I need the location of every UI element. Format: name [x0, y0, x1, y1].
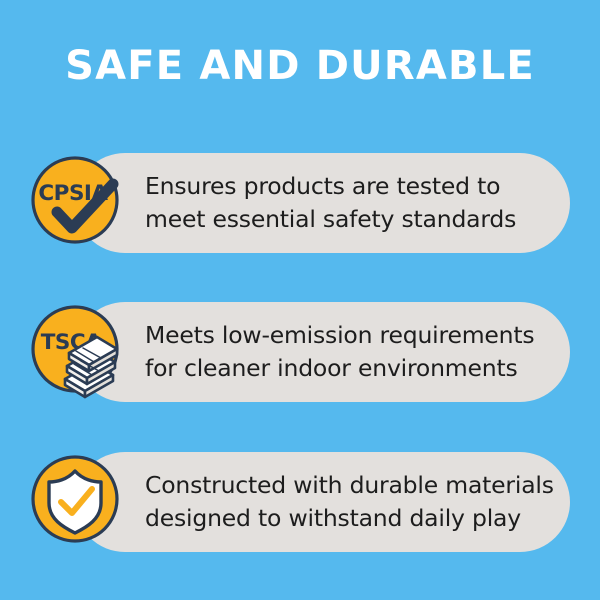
feature-row-tsca: Meets low-emission requirements for clea… [0, 295, 600, 407]
feature-text-line-2: for cleaner indoor environments [145, 352, 565, 385]
feature-text-line-1: Constructed with durable materials [145, 469, 565, 502]
infographic-root: SAFE AND DURABLE Ensures products are te… [0, 0, 600, 600]
feature-text-tsca: Meets low-emission requirements for clea… [145, 302, 565, 402]
feature-text-line-1: Ensures products are tested to [145, 170, 565, 203]
feature-row-durability: Constructed with durable materials desig… [0, 445, 600, 557]
tsca-badge: TSCA [31, 305, 123, 397]
feature-text-line-2: designed to withstand daily play [145, 502, 565, 535]
durability-badge [31, 455, 123, 547]
feature-text-cpsia: Ensures products are tested to meet esse… [145, 153, 565, 253]
feature-text-line-1: Meets low-emission requirements [145, 319, 565, 352]
feature-text-durability: Constructed with durable materials desig… [145, 452, 565, 552]
cpsia-badge: CPSIA [31, 156, 123, 248]
feature-text-line-2: meet essential safety standards [145, 203, 565, 236]
feature-row-cpsia: Ensures products are tested to meet esse… [0, 146, 600, 258]
page-title: SAFE AND DURABLE [0, 44, 600, 88]
